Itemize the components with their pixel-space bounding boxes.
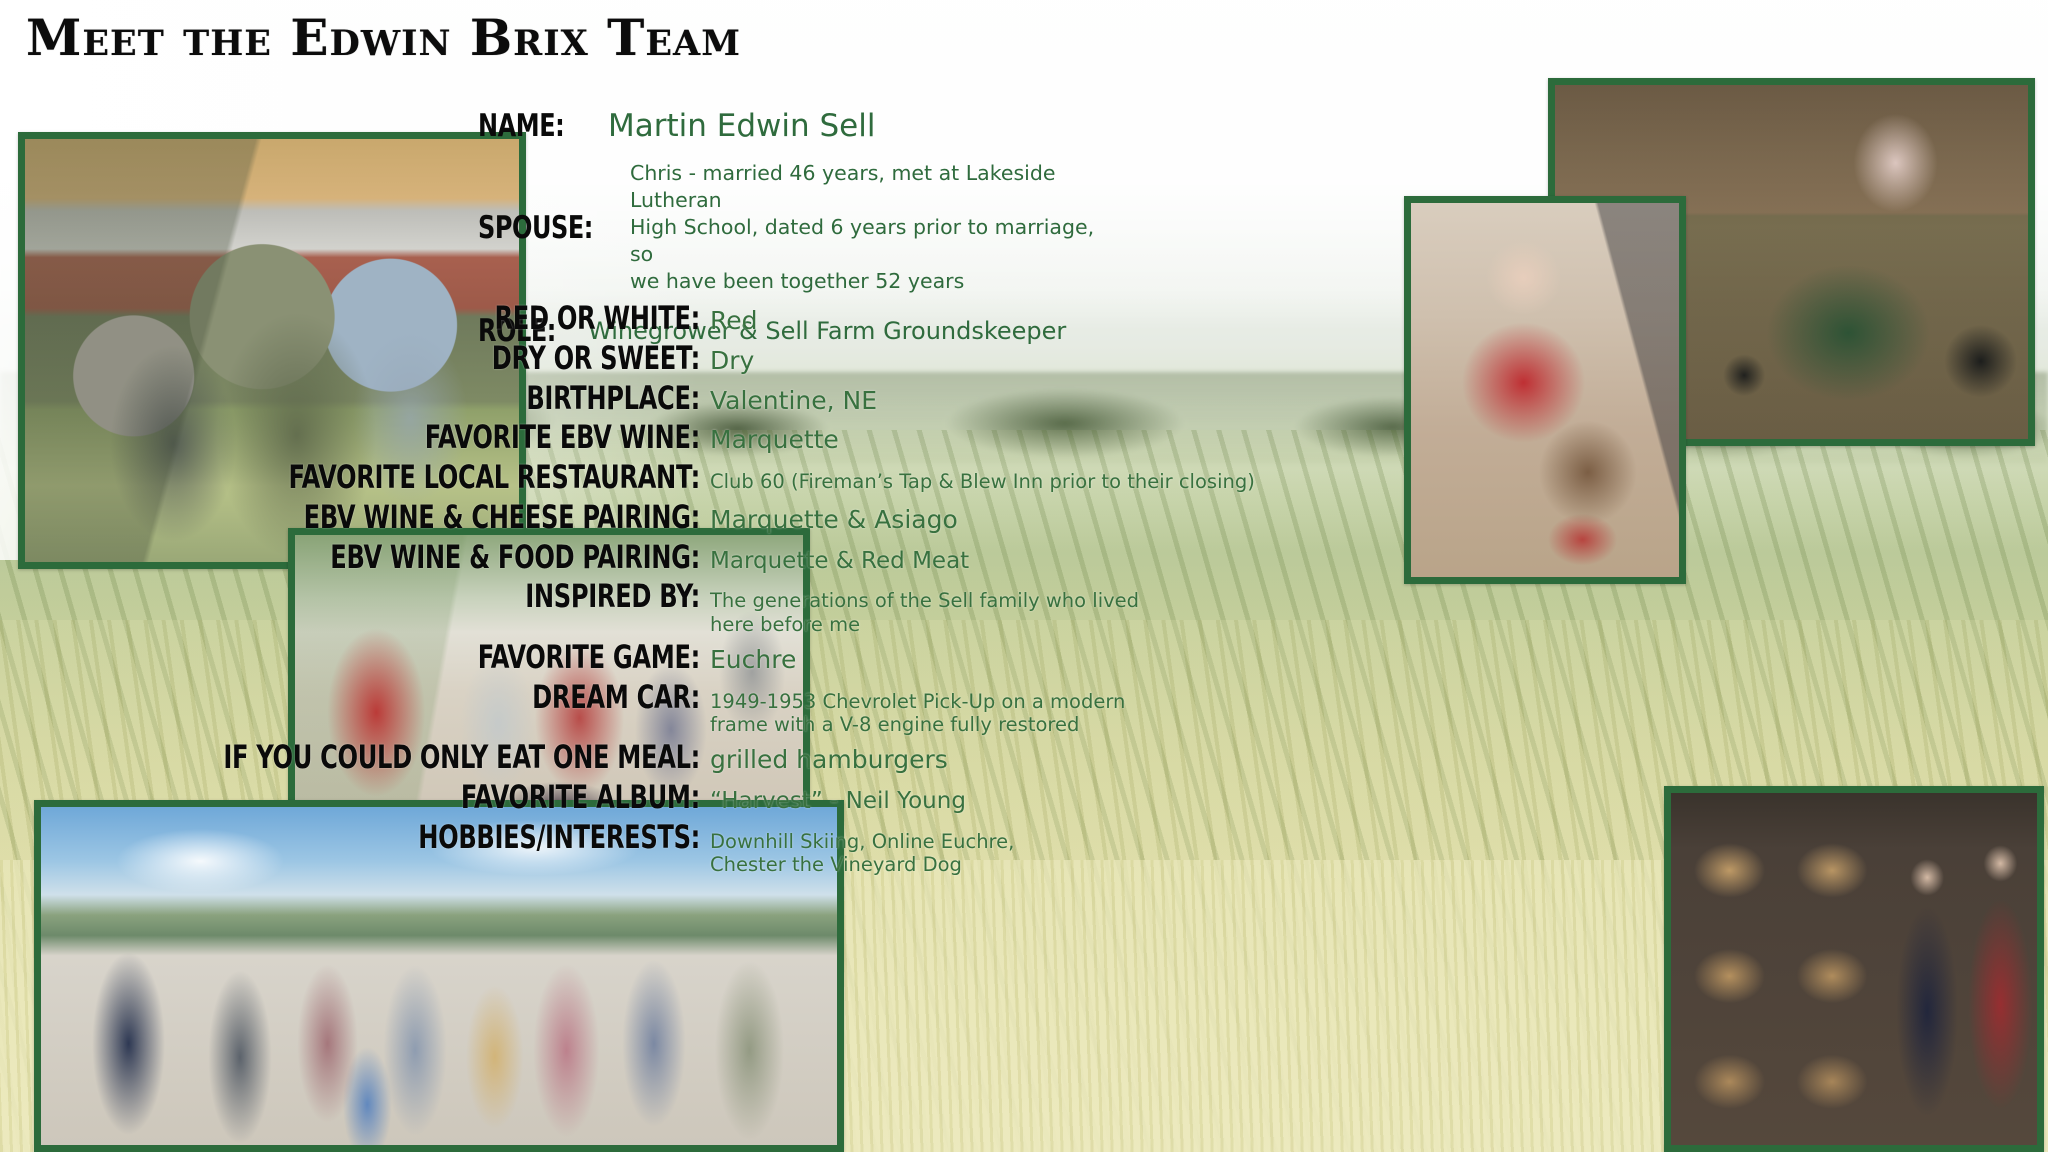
field-name-label: NAME: <box>478 108 574 144</box>
qa-answer: Red <box>710 306 758 337</box>
qa-question: HOBBIES/INTERESTS: <box>112 819 700 857</box>
qa-answer: Marquette & Asiago <box>710 505 958 536</box>
qa-question: EBV WINE & FOOD PAIRING: <box>112 539 700 577</box>
field-name-value: Martin Edwin Sell <box>608 108 875 144</box>
qa-question: FAVORITE GAME: <box>112 639 700 677</box>
photo-barrels-subjects <box>1671 793 2037 1145</box>
field-spouse: SPOUSE: Chris - married 46 years, met at… <box>478 160 1098 295</box>
qa-answer: Marquette & Red Meat <box>710 547 969 575</box>
qa-question: IF YOU COULD ONLY EAT ONE MEAL: <box>112 739 700 777</box>
page-title: Meet the Edwin Brix Team <box>26 8 741 67</box>
qa-answer: Valentine, NE <box>710 386 877 417</box>
qa-question: FAVORITE EBV WINE: <box>112 419 700 457</box>
qa-answer: Marquette <box>710 425 839 456</box>
qa-answer: Club 60 (Fireman’s Tap & Blew Inn prior … <box>710 470 1255 494</box>
qa-question: DRY OR SWEET: <box>112 340 700 378</box>
field-spouse-value: Chris - married 46 years, met at Lakesid… <box>630 160 1098 295</box>
qa-answer: grilled hamburgers <box>710 745 948 776</box>
qa-answer: The generations of the Sell family who l… <box>710 589 1139 637</box>
qa-row: FAVORITE LOCAL RESTAURANT:Club 60 (Firem… <box>0 459 1580 497</box>
qa-question: DREAM CAR: <box>112 679 700 717</box>
qa-answer: 1949-1953 Chevrolet Pick-Up on a modern … <box>710 690 1125 738</box>
qa-row: INSPIRED BY:The generations of the Sell … <box>0 578 1580 637</box>
qa-row: RED OR WHITE:Red <box>0 300 1580 338</box>
qa-row: EBV WINE & CHEESE PAIRING:Marquette & As… <box>0 499 1580 537</box>
qa-row: HOBBIES/INTERESTS:Downhill Skiing, Onlin… <box>0 819 1580 878</box>
photo-barrels <box>1664 786 2044 1152</box>
qa-question: FAVORITE LOCAL RESTAURANT: <box>112 459 700 497</box>
qa-row: DRY OR SWEET:Dry <box>0 340 1580 378</box>
qa-question: EBV WINE & CHEESE PAIRING: <box>112 499 700 537</box>
qa-row: FAVORITE EBV WINE:Marquette <box>0 419 1580 457</box>
qa-row: FAVORITE ALBUM:“Harvest” - Neil Young <box>0 779 1580 817</box>
qa-answer: Downhill Skiing, Online Euchre, Chester … <box>710 830 1014 878</box>
qa-question: FAVORITE ALBUM: <box>112 779 700 817</box>
qa-list: RED OR WHITE:RedDRY OR SWEET:DryBIRTHPLA… <box>0 300 1580 879</box>
qa-answer: “Harvest” - Neil Young <box>710 787 966 815</box>
qa-row: IF YOU COULD ONLY EAT ONE MEAL:grilled h… <box>0 739 1580 777</box>
qa-question: BIRTHPLACE: <box>112 380 700 418</box>
qa-row: DREAM CAR:1949-1953 Chevrolet Pick-Up on… <box>0 679 1580 738</box>
field-spouse-label: SPOUSE: <box>478 210 605 246</box>
qa-question: INSPIRED BY: <box>112 578 700 616</box>
qa-answer: Dry <box>710 346 754 377</box>
poster-canvas: Meet the Edwin Brix Team NAME: Martin Ed… <box>0 0 2048 1152</box>
field-name: NAME: Martin Edwin Sell <box>478 108 1098 144</box>
qa-row: BIRTHPLACE:Valentine, NE <box>0 380 1580 418</box>
qa-row: EBV WINE & FOOD PAIRING:Marquette & Red … <box>0 539 1580 577</box>
qa-answer: Euchre <box>710 645 796 676</box>
qa-question: RED OR WHITE: <box>112 300 700 338</box>
qa-row: FAVORITE GAME:Euchre <box>0 639 1580 677</box>
